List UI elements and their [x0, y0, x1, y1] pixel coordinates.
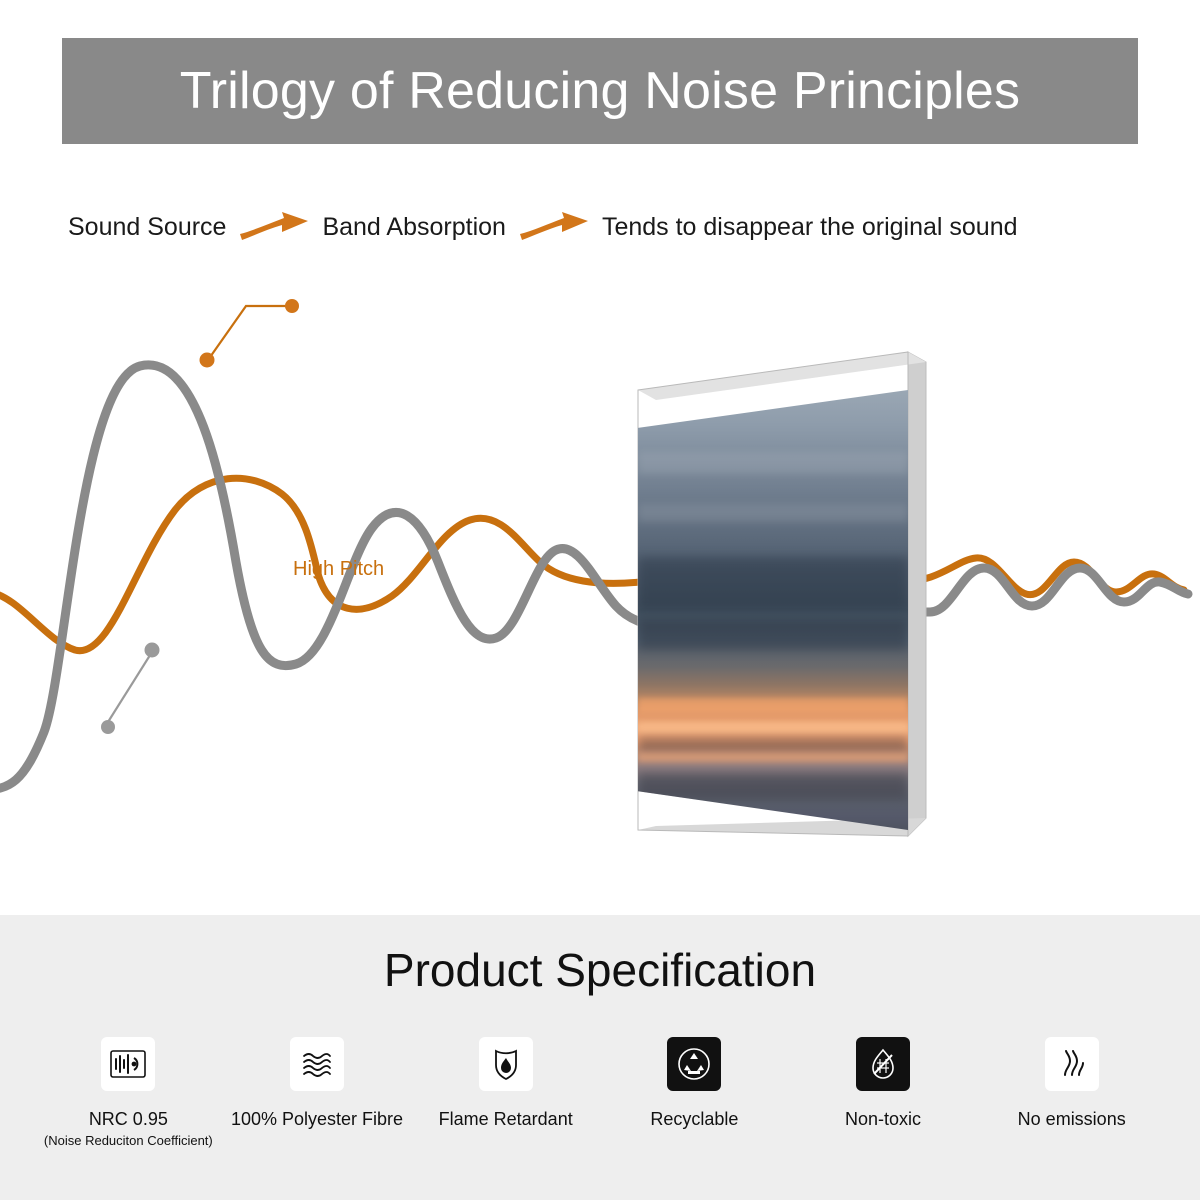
page-title: Trilogy of Reducing Noise Principles: [180, 61, 1021, 121]
mid-bass-callout-leader: [101, 643, 160, 735]
title-banner: Trilogy of Reducing Noise Principles: [62, 38, 1138, 144]
spec-label-nrc: NRC 0.95: [89, 1109, 168, 1130]
spec-sub-nrc: (Noise Reduciton Coefficient): [44, 1133, 213, 1148]
flow-row: Sound Source Band Absorption Tends to di…: [0, 205, 1200, 249]
mid-bass-wave: [0, 478, 1184, 650]
spec-title: Product Specification: [0, 943, 1200, 997]
flow-step-tends-to-disappear: Tends to disappear the original sound: [602, 213, 1018, 242]
sound-meter-icon: [101, 1037, 155, 1091]
arrow-right-icon-2: [518, 210, 590, 244]
spec-label-recyclable: Recyclable: [650, 1109, 738, 1130]
spec-label-polyester-fibre: 100% Polyester Fibre: [231, 1109, 403, 1130]
flow-step-band-absorption: Band Absorption: [322, 213, 505, 242]
spec-item-polyester-fibre: 100% Polyester Fibre: [223, 1037, 412, 1148]
spec-item-non-toxic: Non-toxic: [789, 1037, 978, 1148]
spec-label-non-toxic: Non-toxic: [845, 1109, 921, 1130]
spec-item-no-emissions: No emissions: [977, 1037, 1166, 1148]
flow-step-sound-source: Sound Source: [68, 213, 226, 242]
recycle-icon: [667, 1037, 721, 1091]
no-emissions-icon: [1045, 1037, 1099, 1091]
spec-item-nrc: NRC 0.95 (Noise Reduciton Coefficient): [34, 1037, 223, 1148]
infographic-page: Trilogy of Reducing Noise Principles Sou…: [0, 0, 1200, 1200]
fibre-waves-icon: [290, 1037, 344, 1091]
spec-label-no-emissions: No emissions: [1018, 1109, 1126, 1130]
spec-item-recyclable: Recyclable: [600, 1037, 789, 1148]
arrow-right-icon: [238, 210, 310, 244]
non-toxic-icon: [856, 1037, 910, 1091]
acoustic-panel: [630, 340, 940, 870]
panel-photo-sunset-sky: [638, 390, 908, 830]
spec-items-row: NRC 0.95 (Noise Reduciton Coefficient): [0, 1037, 1200, 1148]
high-pitch-callout-leader: [200, 299, 300, 368]
spec-item-flame-retardant: Flame Retardant: [411, 1037, 600, 1148]
spec-label-flame-retardant: Flame Retardant: [439, 1109, 573, 1130]
flame-shield-icon: [479, 1037, 533, 1091]
product-specification-section: Product Specification: [0, 912, 1200, 1200]
wave-diagram: High Pitch Mid Bass: [0, 262, 1200, 912]
callout-label-high-pitch: High Pitch: [293, 558, 384, 581]
